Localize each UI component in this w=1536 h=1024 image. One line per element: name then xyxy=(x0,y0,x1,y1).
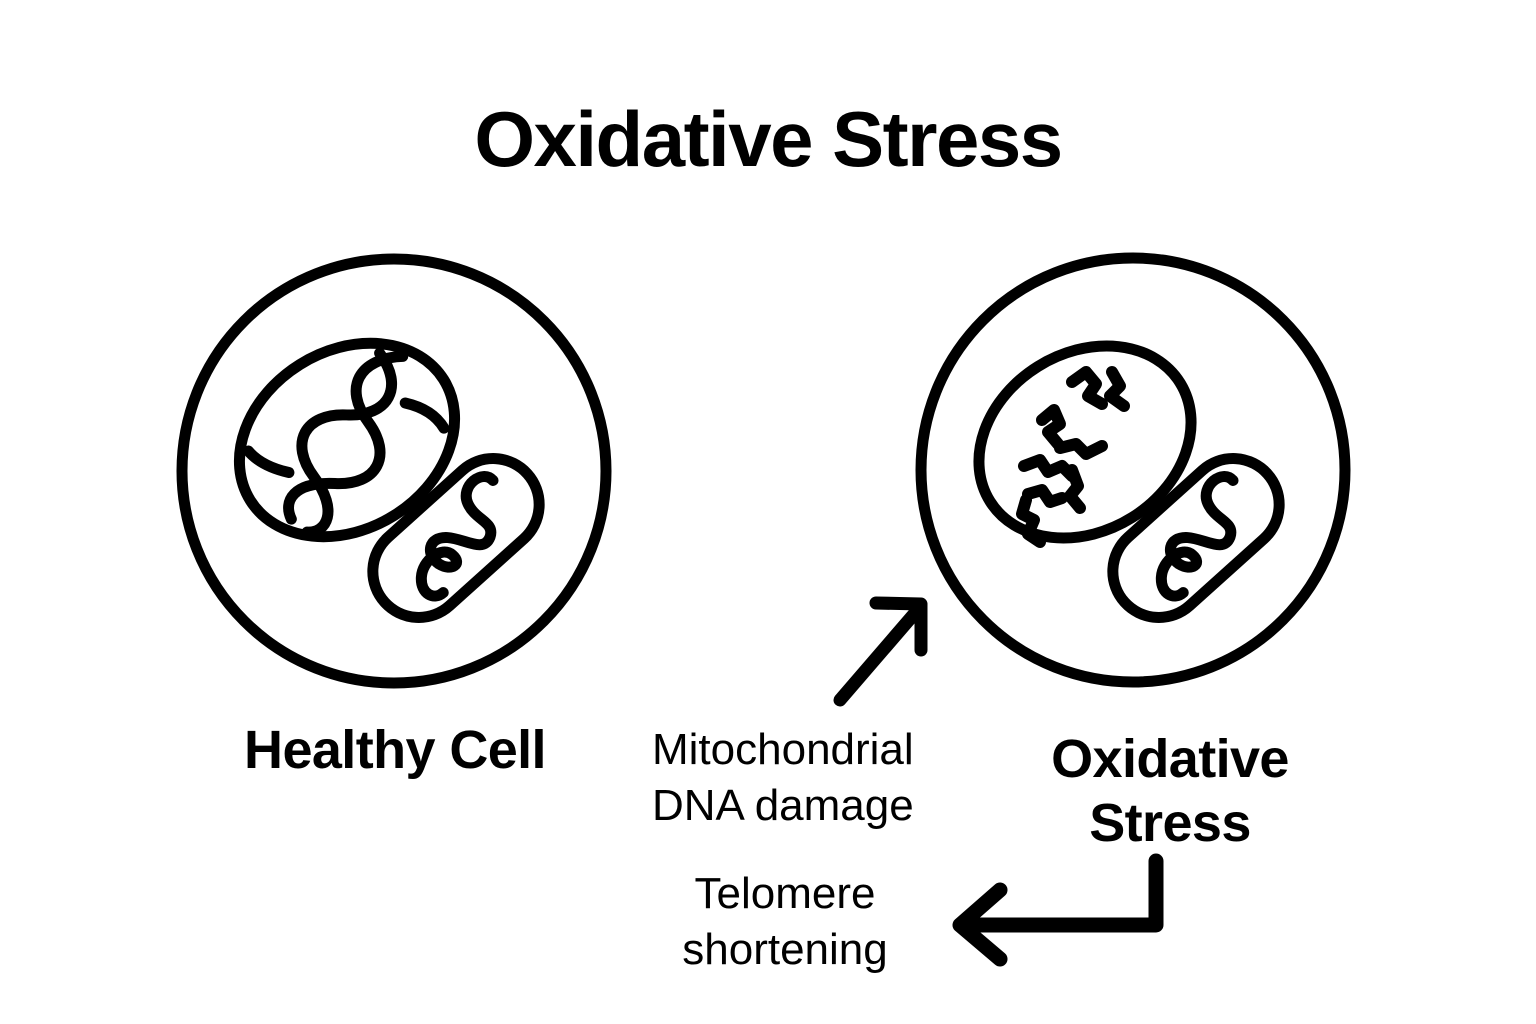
arrow-elbow-left-icon xyxy=(960,861,1156,959)
telomere-shortening-label: Telomereshortening xyxy=(640,866,930,979)
diagram-canvas: Oxidative Stress Healthy Cell OxidativeS… xyxy=(0,0,1536,1024)
telomere-shortening-line2: shortening xyxy=(682,925,887,974)
oxidative-stress-cell-label: OxidativeStress xyxy=(1000,728,1340,855)
mitochondrion-cristae xyxy=(392,471,527,601)
healthy-cell-group xyxy=(182,259,606,683)
mitochondrion-cristae-stressed xyxy=(1132,471,1267,601)
mitochondrial-dna-damage-label: MitochondrialDNA damage xyxy=(652,722,992,835)
healthy-cell-label: Healthy Cell xyxy=(140,722,650,779)
cell-membrane-icon xyxy=(182,259,606,683)
fragmented-dna-icon xyxy=(1022,372,1124,542)
mitochondrial-dna-damage-line2: DNA damage xyxy=(652,781,914,830)
arrow-up-right-icon xyxy=(840,603,921,700)
mitochondrion-icon-healthy xyxy=(354,440,558,637)
telomere-shortening-line1: Telomere xyxy=(695,869,876,918)
oxidative-stress-label-line1: Oxidative xyxy=(1051,729,1289,789)
page-title: Oxidative Stress xyxy=(0,98,1536,181)
mitochondrion-icon-stressed xyxy=(1094,440,1298,637)
oxidative-stress-cell-group xyxy=(921,258,1345,682)
mitochondrial-dna-damage-line1: Mitochondrial xyxy=(652,725,914,774)
oxidative-stress-label-line2: Stress xyxy=(1089,793,1251,853)
